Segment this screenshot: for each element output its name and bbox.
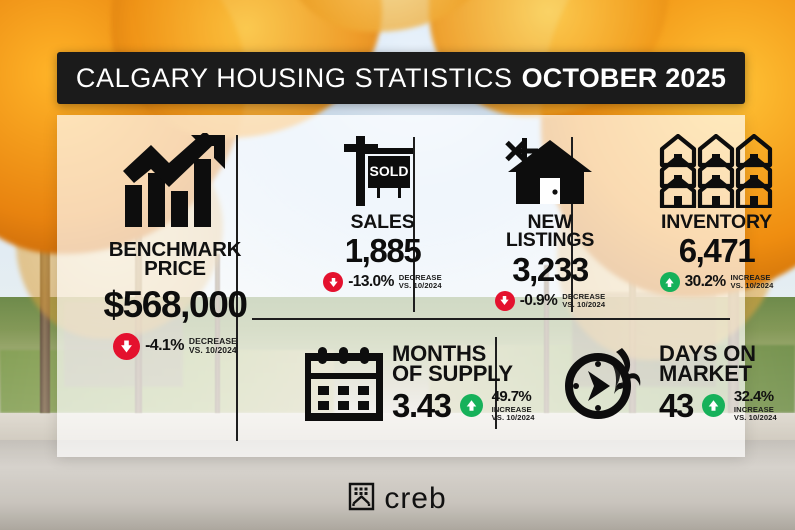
stat-compare-label: VS. 10/2024 <box>731 282 774 290</box>
stat-compare-label: VS. 10/2024 <box>189 346 237 355</box>
stat-label: SALES <box>295 213 470 231</box>
stat-label-line1: SALES <box>295 213 470 231</box>
stats-panel: BENCHMARK PRICE $568,000 -4.1% DECREASE … <box>57 115 745 457</box>
stat-compare-label: VS. 10/2024 <box>399 282 442 290</box>
stat-value: 6,471 <box>630 234 795 267</box>
arrow-up-icon <box>660 272 680 292</box>
stat-label: NEW LISTINGS <box>472 213 628 250</box>
stat-new-listings: NEW LISTINGS 3,233 -0.9% DECREASE VS. 10… <box>472 133 628 311</box>
stat-label: DAYS ON MARKET <box>659 344 777 385</box>
svg-text:SOLD: SOLD <box>369 163 408 179</box>
page-title: CALGARY HOUSING STATISTICS <box>76 63 513 94</box>
creb-logo-text: creb <box>384 484 446 514</box>
stat-change-desc: DECREASE VS. 10/2024 <box>189 337 237 355</box>
stat-inventory: INVENTORY 6,471 30.2% INCREASE VS. 10/20… <box>630 133 795 292</box>
stat-label-line1: INVENTORY <box>630 213 795 231</box>
stat-change: -4.1% DECREASE VS. 10/2024 <box>57 333 293 360</box>
stat-change-desc: INCREASE VS. 10/2024 <box>492 406 535 422</box>
infographic-canvas: CALGARY HOUSING STATISTICS OCTOBER 2025 <box>0 0 795 530</box>
new-house-sparkle-icon <box>472 133 628 209</box>
stat-change-desc: INCREASE VS. 10/2024 <box>734 406 777 422</box>
stat-change: -0.9% DECREASE VS. 10/2024 <box>472 291 628 311</box>
stat-value: 43 <box>659 389 693 422</box>
stat-compare-label: VS. 10/2024 <box>562 301 605 309</box>
arrow-down-icon <box>323 272 343 292</box>
stat-value: 1,885 <box>295 234 470 267</box>
fast-clock-icon <box>562 344 650 422</box>
stat-months-of-supply: MONTHS OF SUPPLY 3.43 49.7% INCREASE VS.… <box>305 333 545 433</box>
divider-horizontal <box>252 318 730 320</box>
stat-days-on-market: DAYS ON MARKET 43 32.4% INCREASE VS. 10/… <box>562 333 795 433</box>
stat-value: 3.43 <box>392 389 451 422</box>
stat-percent: 32.4% <box>734 388 774 405</box>
stat-label-line2: MARKET <box>659 364 777 385</box>
stat-change: 30.2% INCREASE VS. 10/2024 <box>630 272 795 292</box>
stat-change-desc: INCREASE VS. 10/2024 <box>731 274 774 290</box>
arrow-down-icon <box>113 333 140 360</box>
bar-chart-growth-icon <box>57 129 293 233</box>
stat-label: MONTHS OF SUPPLY <box>392 344 535 385</box>
stat-compare-label: VS. 10/2024 <box>734 414 777 422</box>
creb-house-mark-icon <box>348 482 375 516</box>
stat-change: -13.0% DECREASE VS. 10/2024 <box>295 272 470 292</box>
stat-percent: -13.0% <box>348 273 394 291</box>
stat-value: 3,233 <box>472 253 628 286</box>
stat-label-line2: OF SUPPLY <box>392 364 535 385</box>
arrow-up-icon <box>460 394 483 417</box>
stat-percent: 49.7% <box>492 388 532 405</box>
stat-change-desc: DECREASE VS. 10/2024 <box>399 274 442 290</box>
stat-compare-label: VS. 10/2024 <box>492 414 535 422</box>
calendar-icon <box>305 345 383 421</box>
stat-sales: SOLD SALES 1,885 -13.0% DECREASE VS. 10/… <box>295 133 470 292</box>
stat-percent: 30.2% <box>685 273 726 291</box>
title-bar: CALGARY HOUSING STATISTICS OCTOBER 2025 <box>57 52 745 104</box>
stat-value: $568,000 <box>57 286 293 323</box>
stat-label: BENCHMARK PRICE <box>57 240 293 279</box>
stat-label-line2: LISTINGS <box>472 231 628 249</box>
sold-sign-icon: SOLD <box>295 133 470 209</box>
stat-label-line2: PRICE <box>57 259 293 278</box>
creb-logo[interactable]: creb <box>0 482 795 516</box>
stat-benchmark-price: BENCHMARK PRICE $568,000 -4.1% DECREASE … <box>57 129 293 360</box>
stat-percent: -4.1% <box>145 337 184 355</box>
stat-label: INVENTORY <box>630 213 795 231</box>
arrow-down-icon <box>495 291 515 311</box>
stat-change-desc: DECREASE VS. 10/2024 <box>562 293 605 309</box>
houses-grid-icon <box>630 133 795 209</box>
stat-percent: -0.9% <box>520 292 558 310</box>
arrow-up-icon <box>702 394 725 417</box>
page-title-period: OCTOBER 2025 <box>522 63 726 94</box>
